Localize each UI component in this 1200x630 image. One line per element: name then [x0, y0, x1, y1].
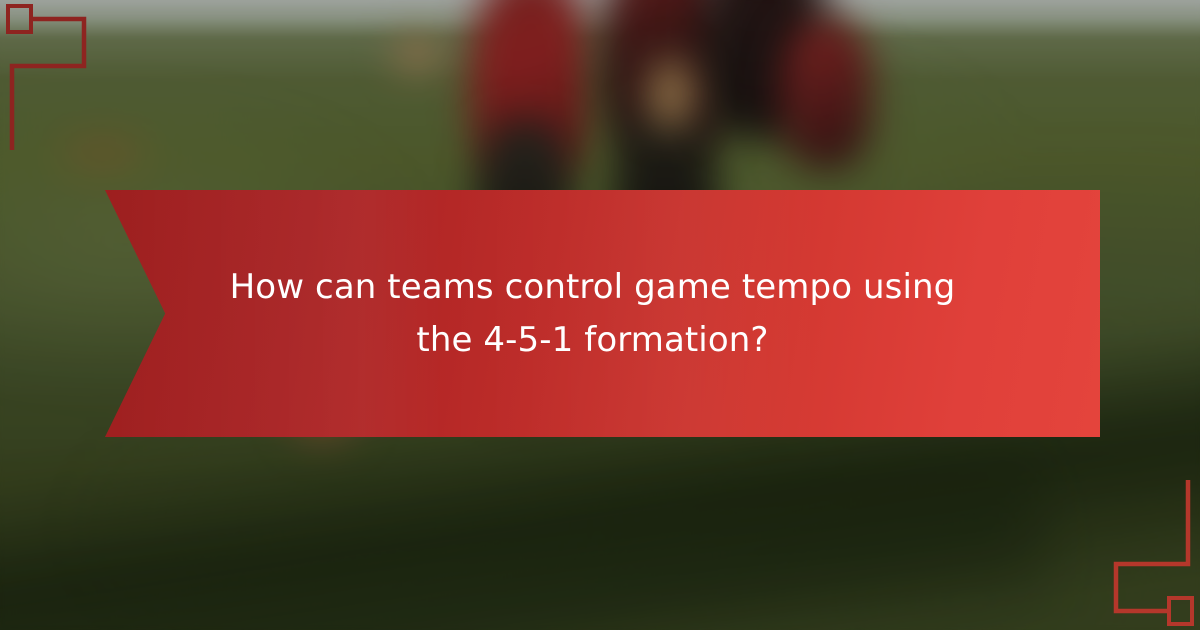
circuit-node-square — [8, 6, 31, 32]
circuit-trace-main — [1116, 480, 1188, 611]
circuit-node-square — [1169, 598, 1192, 624]
quote-line-1: How can teams control game tempo using — [230, 261, 956, 314]
quote-text: How can teams control game tempo using t… — [195, 190, 990, 437]
top-left-circuit-corner — [0, 0, 230, 190]
quote-banner: How can teams control game tempo using t… — [105, 190, 1100, 437]
quote-card: How can teams control game tempo using t… — [0, 0, 1200, 630]
quote-line-2: the 4-5-1 formation? — [416, 314, 768, 367]
circuit-trace-main — [12, 19, 84, 150]
bottom-right-circuit-corner — [970, 440, 1200, 630]
